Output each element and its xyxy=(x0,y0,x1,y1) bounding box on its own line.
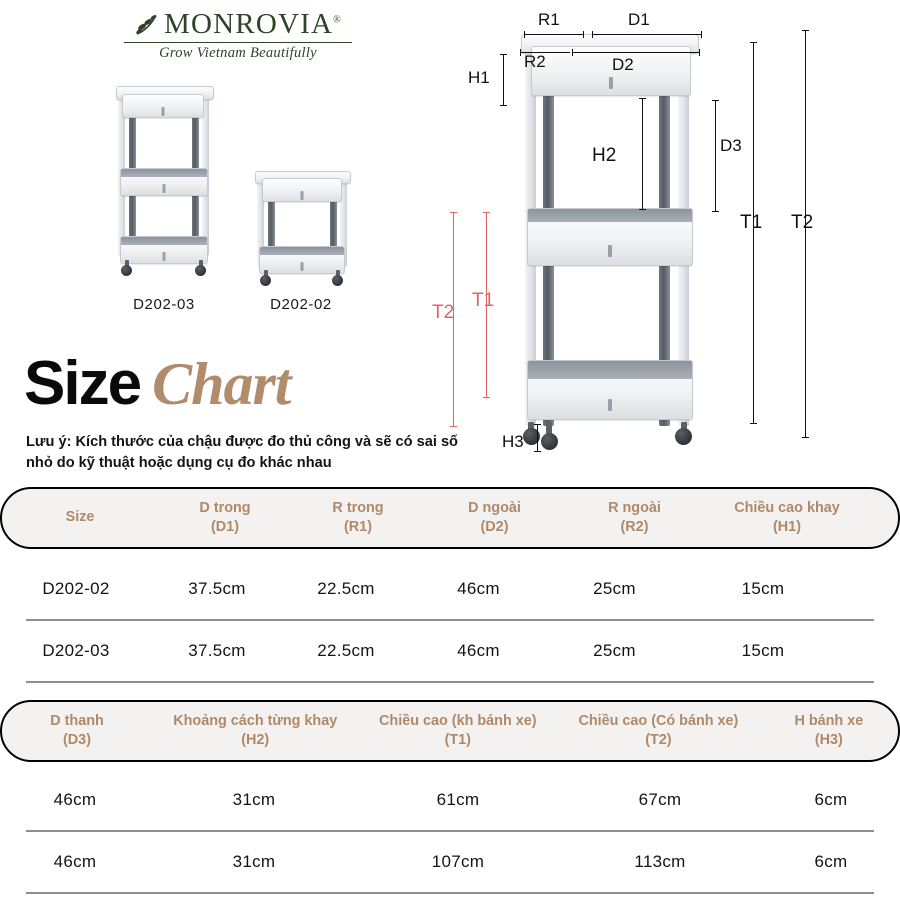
dim-cap xyxy=(583,31,584,38)
product-label-d202-03: D202-03 xyxy=(104,296,224,313)
th-r2: R ngoài (R2) xyxy=(565,499,704,538)
tray-latch xyxy=(301,262,304,271)
cell-t2: 67cm xyxy=(558,790,762,810)
brand-logo: MONROVIA® Grow Vietnam Beautifully xyxy=(118,8,358,62)
size-table-1: Size D trong (D1) R trong (R1) D ngoài (… xyxy=(0,487,900,683)
dim-label-d1: D1 xyxy=(628,10,650,30)
tray-interior xyxy=(528,361,692,379)
dim-cap xyxy=(450,212,457,213)
cart-tray xyxy=(531,46,691,96)
dim-label-t2-red: T2 xyxy=(432,302,454,324)
tray-latch xyxy=(162,107,165,116)
title-chart: Chart xyxy=(152,351,290,417)
row-separator xyxy=(26,681,874,683)
dim-label-t1: T1 xyxy=(740,212,762,234)
caster-wheel xyxy=(260,275,271,286)
table-row: 46cm 31cm 61cm 67cm 6cm xyxy=(0,770,900,830)
tray-interior xyxy=(121,237,207,245)
size-table-2: D thanh (D3) Khoảng cách từng khay (H2) … xyxy=(0,700,900,894)
cell-r2: 25cm xyxy=(547,579,682,599)
table-2-header-row: D thanh (D3) Khoảng cách từng khay (H2) … xyxy=(0,700,900,762)
cell-d1: 37.5cm xyxy=(152,579,282,599)
dim-cap xyxy=(483,397,490,398)
dim-cap xyxy=(592,31,593,38)
measurement-note: Lưu ý: Kích thước của chậu được đo thủ c… xyxy=(26,432,466,474)
leaf-branch-icon xyxy=(134,12,160,38)
caster-wheel xyxy=(121,265,132,276)
cell-t2: 113cm xyxy=(558,852,762,872)
dim-line-r1 xyxy=(524,34,584,35)
dim-cap xyxy=(639,98,646,99)
dim-cap xyxy=(802,30,809,31)
cell-size: D202-03 xyxy=(0,641,152,661)
dim-label-h1: H1 xyxy=(468,68,490,88)
cell-d2: 46cm xyxy=(410,641,547,661)
dim-cap xyxy=(534,424,541,425)
brand-name: MONROVIA® xyxy=(164,8,342,41)
cart-tray xyxy=(122,94,204,118)
table-row: D202-02 37.5cm 22.5cm 46cm 25cm 15cm xyxy=(0,559,900,619)
technical-diagram: R1 D1 R2 D2 H1 H2 D3 T1 xyxy=(420,0,900,480)
dim-label-t2: T2 xyxy=(791,212,813,234)
dim-label-h3: H3 xyxy=(502,432,524,452)
caster-wheel xyxy=(332,275,343,286)
table-row: D202-03 37.5cm 22.5cm 46cm 25cm 15cm xyxy=(0,621,900,681)
dim-cap xyxy=(520,49,521,56)
cell-h2: 31cm xyxy=(150,790,358,810)
dim-cap xyxy=(500,54,507,55)
cell-h2: 31cm xyxy=(150,852,358,872)
dim-label-r1: R1 xyxy=(538,10,560,30)
title-size: Size xyxy=(24,349,140,418)
dim-cap xyxy=(500,105,507,106)
table-row: 46cm 31cm 107cm 113cm 6cm xyxy=(0,832,900,892)
cell-t1: 61cm xyxy=(358,790,558,810)
dim-label-d2: D2 xyxy=(612,55,634,75)
cart-tray xyxy=(527,360,693,420)
caster-wheel xyxy=(675,428,692,445)
product-thumb-d202-02 xyxy=(252,168,352,278)
cell-d2: 46cm xyxy=(410,579,547,599)
cell-h3: 6cm xyxy=(762,790,900,810)
dim-line-h1 xyxy=(503,54,504,106)
cell-h1: 15cm xyxy=(682,641,844,661)
page-title: SizeChart xyxy=(24,348,290,419)
registered-mark: ® xyxy=(333,14,342,25)
th-h2: Khoảng cách từng khay (H2) xyxy=(152,712,358,751)
dim-label-d3: D3 xyxy=(720,136,742,156)
dim-label-r2: R2 xyxy=(524,52,546,72)
tray-latch xyxy=(163,252,166,261)
th-h3: H bánh xe (H3) xyxy=(760,712,898,751)
tray-interior xyxy=(260,247,344,255)
dim-cap xyxy=(750,423,757,424)
tray-latch xyxy=(163,184,166,193)
dim-cap xyxy=(701,31,702,38)
cell-t1: 107cm xyxy=(358,852,558,872)
dim-cap xyxy=(572,49,573,56)
dim-cap xyxy=(534,451,541,452)
cell-h3: 6cm xyxy=(762,852,900,872)
th-size: Size xyxy=(2,508,158,527)
cart-tray xyxy=(527,208,693,266)
th-h1: Chiều cao khay (H1) xyxy=(704,499,870,538)
dim-cap xyxy=(699,49,700,56)
dim-line-h3 xyxy=(537,424,538,452)
cell-d3: 46cm xyxy=(0,852,150,872)
logo-wordmark-row: MONROVIA® xyxy=(118,8,358,41)
brand-tagline: Grow Vietnam Beautifully xyxy=(118,45,358,62)
dim-label-t1-red: T1 xyxy=(472,290,494,312)
dim-cap xyxy=(712,211,719,212)
product-label-d202-02: D202-02 xyxy=(241,296,361,313)
cell-r2: 25cm xyxy=(547,641,682,661)
th-d2: D ngoài (D2) xyxy=(424,499,565,538)
tray-interior xyxy=(121,169,207,177)
row-separator xyxy=(26,892,874,894)
cart-tray xyxy=(120,168,208,196)
dim-cap xyxy=(639,209,646,210)
dim-line-d2 xyxy=(572,52,700,53)
caster-wheel xyxy=(195,265,206,276)
dim-cap xyxy=(802,437,809,438)
cart-tray xyxy=(262,178,342,202)
dim-line-d1 xyxy=(592,34,702,35)
dim-cap xyxy=(524,31,525,38)
tray-latch xyxy=(609,77,613,89)
cell-d3: 46cm xyxy=(0,790,150,810)
cart-tray xyxy=(259,246,345,274)
dim-cap xyxy=(483,212,490,213)
cell-r1: 22.5cm xyxy=(282,641,410,661)
dim-cap xyxy=(712,100,719,101)
logo-divider xyxy=(124,42,352,43)
product-thumb-d202-03 xyxy=(112,82,216,278)
tray-latch xyxy=(301,191,304,200)
dim-cap xyxy=(750,42,757,43)
table-1-header-row: Size D trong (D1) R trong (R1) D ngoài (… xyxy=(0,487,900,549)
cart-tray xyxy=(120,236,208,264)
cell-h1: 15cm xyxy=(682,579,844,599)
caster-wheel xyxy=(541,433,558,450)
dim-cap xyxy=(450,426,457,427)
th-r1: R trong (R1) xyxy=(292,499,424,538)
cell-r1: 22.5cm xyxy=(282,579,410,599)
th-t1: Chiều cao (kh bánh xe) (T1) xyxy=(358,712,557,751)
tray-interior xyxy=(528,209,692,222)
cell-size: D202-02 xyxy=(0,579,152,599)
diagram-cart xyxy=(515,30,700,450)
th-t2: Chiều cao (Có bánh xe) (T2) xyxy=(557,712,760,751)
th-d3: D thanh (D3) xyxy=(2,712,152,751)
dim-line-d3 xyxy=(715,100,716,212)
dim-line-t2 xyxy=(805,30,806,438)
dim-line-h2 xyxy=(642,98,643,210)
size-chart-page: MONROVIA® Grow Vietnam Beautifully D xyxy=(0,0,900,900)
th-d1: D trong (D1) xyxy=(158,499,292,538)
tray-latch xyxy=(608,245,612,257)
cell-d1: 37.5cm xyxy=(152,641,282,661)
tray-latch xyxy=(608,399,612,411)
dim-label-h2: H2 xyxy=(592,145,616,167)
